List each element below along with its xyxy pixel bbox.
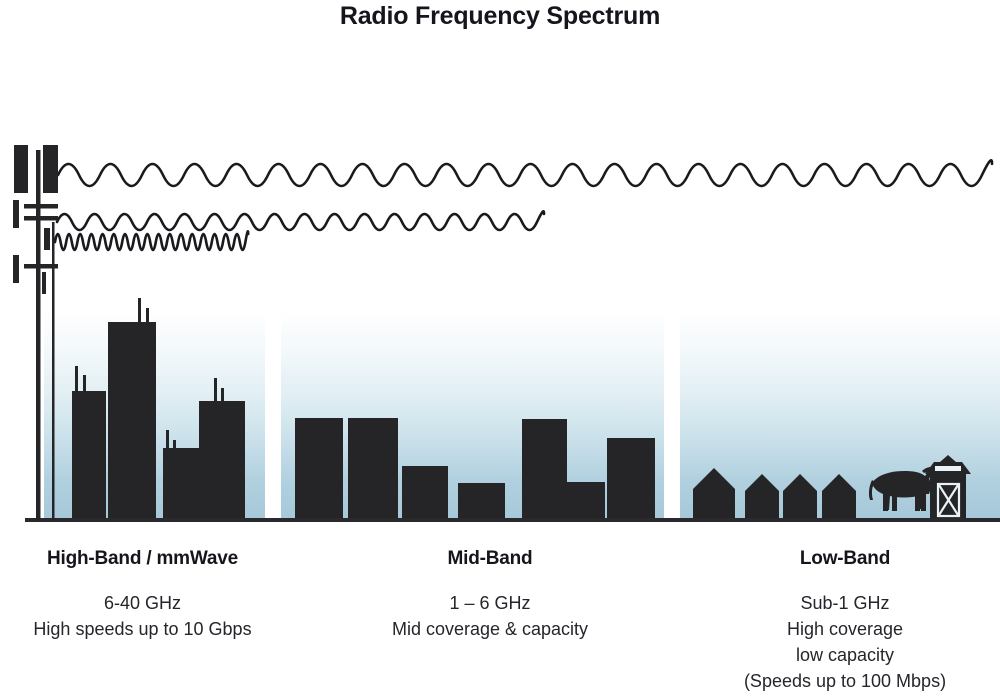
caption-high-band: High-Band / mmWave 6-40 GHz High speeds … [0, 548, 285, 642]
wave-short [55, 231, 248, 250]
cell-tower [13, 145, 58, 520]
band-detail-low-1: High coverage [690, 616, 1000, 642]
band-frequency-low: Sub-1 GHz [690, 590, 1000, 616]
wave-medium [57, 211, 544, 230]
panel-antenna-left [14, 145, 28, 193]
band-frequency-mid: 1 – 6 GHz [295, 590, 685, 616]
small-antenna [44, 228, 50, 250]
band-name-high: High-Band / mmWave [0, 548, 285, 570]
band-name-mid: Mid-Band [295, 548, 685, 570]
wave-long [58, 160, 992, 186]
tower-crossbar [24, 264, 58, 269]
small-antenna [42, 272, 46, 294]
band-detail-mid-1: Mid coverage & capacity [295, 616, 685, 642]
small-antenna [13, 200, 19, 228]
tower-crossbar [24, 216, 58, 221]
band-detail-high-1: High speeds up to 10 Gbps [0, 616, 285, 642]
caption-mid-band: Mid-Band 1 – 6 GHz Mid coverage & capaci… [295, 548, 685, 642]
band-frequency-high: 6-40 GHz [0, 590, 285, 616]
caption-low-band: Low-Band Sub-1 GHz High coverage low cap… [690, 548, 1000, 694]
small-antenna [13, 255, 19, 283]
panel-antenna-right [43, 145, 58, 193]
tower-crossbar [24, 204, 58, 209]
band-name-low: Low-Band [690, 548, 1000, 570]
band-detail-low-3: (Speeds up to 100 Mbps) [690, 668, 1000, 694]
infographic-canvas: Radio Frequency Spectrum [0, 0, 1000, 700]
band-detail-low-2: low capacity [690, 642, 1000, 668]
